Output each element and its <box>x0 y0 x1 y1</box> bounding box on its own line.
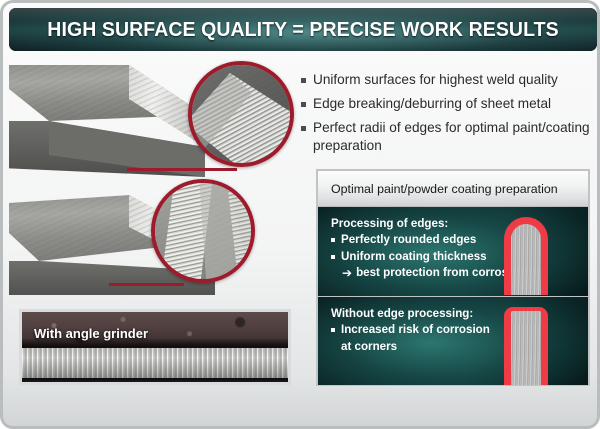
feature-bullet-list: Uniform surfaces for highest weld qualit… <box>301 71 593 161</box>
list-item: Edge breaking/deburring of sheet metal <box>301 95 593 113</box>
list-item: Uniform surfaces for highest weld qualit… <box>301 71 593 89</box>
bullet-square-icon <box>301 102 306 107</box>
panel-header-title: Optimal paint/powder coating preparation <box>318 182 558 196</box>
list-item: Increased risk of corrosion <box>331 322 588 338</box>
bullet-text: Increased risk of corrosion <box>341 322 490 338</box>
bullet-text: Uniform coating thickness <box>341 249 487 265</box>
arrow-right-icon: ➔ <box>342 265 352 281</box>
leader-line-lower <box>109 283 184 286</box>
leader-line-upper <box>127 168 237 171</box>
bullet-text: Perfectly rounded edges <box>341 232 476 248</box>
title-bar: HIGH SURFACE QUALITY = PRECISE WORK RESU… <box>9 8 597 51</box>
list-item: Perfect radii of edges for optimal paint… <box>301 119 593 155</box>
bullet-text: Edge breaking/deburring of sheet metal <box>313 95 551 113</box>
magnifier-circle-lower-edge <box>151 179 255 283</box>
magnifier-lower-content <box>153 181 255 283</box>
list-item: Uniform coating thickness <box>331 249 588 265</box>
bullet-square-icon <box>331 255 335 259</box>
metal-core <box>511 311 541 385</box>
bullet-square-icon <box>331 238 335 242</box>
bullet-text: Uniform surfaces for highest weld qualit… <box>313 71 558 89</box>
metal-plate-upper <box>9 65 205 177</box>
page-title: HIGH SURFACE QUALITY = PRECISE WORK RESU… <box>24 8 583 51</box>
photo-label: With angle grinder <box>34 326 148 341</box>
result-line: ➔ best protection from corrosion <box>331 265 588 281</box>
photo-baseline <box>22 378 288 385</box>
magnifier-upper-content <box>190 63 294 167</box>
slide-frame: HIGH SURFACE QUALITY = PRECISE WORK RESU… <box>0 0 600 429</box>
list-item-continuation: at corners <box>331 339 588 355</box>
panel-section-processed: Processing of edges: Perfectly rounded e… <box>318 207 588 297</box>
angle-grinder-photo: With angle grinder <box>19 309 291 385</box>
section-title: Processing of edges: <box>331 217 588 230</box>
bullet-square-icon <box>301 126 306 131</box>
panel-section-unprocessed: Without edge processing: Increased risk … <box>318 297 588 385</box>
ground-surface-shading <box>22 348 288 381</box>
metal-core <box>511 224 541 295</box>
rounded-edge-cross-section-graphic <box>504 217 548 295</box>
bullet-square-icon <box>331 328 335 332</box>
bullet-square-icon <box>301 78 306 83</box>
list-item: Perfectly rounded edges <box>331 232 588 248</box>
bullet-text: at corners <box>341 339 397 355</box>
section-title: Without edge processing: <box>331 307 588 320</box>
result-text: best protection from corrosion <box>356 265 525 281</box>
magnifier-circle-upper-edge <box>188 61 294 167</box>
sharp-edge-cross-section-graphic <box>504 307 548 385</box>
panel-header: Optimal paint/powder coating preparation <box>318 171 588 207</box>
coating-comparison-panel: Optimal paint/powder coating preparation… <box>316 169 590 386</box>
bullet-text: Perfect radii of edges for optimal paint… <box>313 119 593 155</box>
